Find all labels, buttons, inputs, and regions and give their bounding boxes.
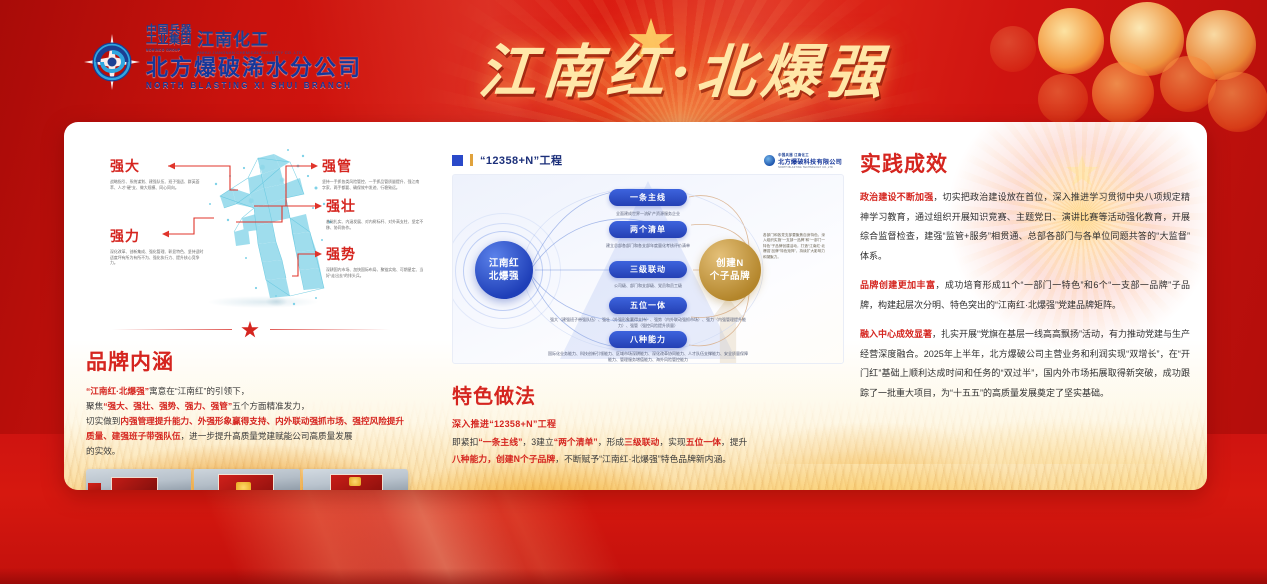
pillar-desc-4: 强大（建强班子带强队伍）、强壮（外强形象赢得支持）、强势（内外联动强抓市场）、强…: [548, 317, 748, 329]
brand-section-body: “江南红·北爆强”寓意在“江南红”的引领下， 聚焦“强大、强壮、强势、强力、强管…: [86, 384, 416, 459]
runner-label-title: 强管: [322, 156, 422, 176]
norinco-compass-icon: [84, 34, 140, 90]
meeting-photo-3: [303, 469, 408, 490]
content-card: 强大 战略指引、系统谋划、建强队伍、班子强适、群英荟萃、人才“硬”支、做大规模、…: [64, 122, 1207, 490]
poster-canvas: 中国兵器 工业集团 NORINCO GROUP 江南化工 ANHUI JIANG…: [0, 0, 1267, 584]
brand-highlight-4: 质量、建强班子带强队伍: [86, 431, 181, 441]
pillar-pill-3: 三级联动: [609, 261, 687, 278]
brand-text-f: 的实效。: [86, 446, 120, 456]
divider-line-left: [112, 329, 232, 330]
feat-h6: ，创建N个子品牌: [487, 454, 555, 464]
results-body-3: ，扎实开展“党旗在基层一线高高飘扬”活动，有力推动党建与生产经营深度融合。202…: [860, 329, 1190, 398]
star-icon: [241, 321, 259, 339]
pillar-desc-3: 公司级、部门和支部级、党员和员工级: [614, 283, 682, 289]
feat-h5: 八种能力: [452, 454, 487, 464]
company-name-cn: 北方爆破浠水分公司: [146, 55, 386, 81]
feature-subheading: 深入推进“12358+N”工程: [452, 417, 842, 430]
logo-text-block: 中国兵器 工业集团 NORINCO GROUP 江南化工 ANHUI JIANG…: [146, 31, 386, 90]
brand-text-a: 寓意在“江南红”的引领下，: [149, 386, 249, 396]
blue-square-icon: [452, 155, 463, 166]
feature-heading: 特色做法: [452, 380, 842, 409]
corner-logo-icon: [764, 155, 775, 166]
meeting-photo-2: [194, 469, 299, 490]
pillar-pill-4: 五位一体: [609, 297, 687, 314]
company-logo: 中国兵器 工业集团 NORINCO GROUP 江南化工 ANHUI JIANG…: [84, 31, 384, 97]
feat-h1: “一条主线”: [478, 437, 522, 447]
gold-bar-icon: [470, 154, 473, 166]
runner-label-desc: 战略指引、系统谋划、建强队伍、班子强适、群英荟萃、人才“硬”支、做大规模、同心同…: [110, 179, 206, 190]
panel-header-left: “12358+N”工程: [452, 152, 562, 168]
brand-section-heading: 品牌内涵: [86, 346, 436, 376]
feat-h3: 三级联动: [624, 437, 659, 447]
runner-figure-icon: [198, 148, 338, 308]
runner-label-desc: 深化改革、创新集成、强化管理、彰显特色、坚持适时适度坪有所为有所不为、强化执行力…: [110, 249, 206, 266]
runner-label-qiangli: 强力 深化改革、创新集成、强化管理、彰显特色、坚持适时适度坪有所为有所不为、强化…: [110, 226, 206, 266]
brand-text-c: 五个方面精准发力，: [232, 401, 309, 411]
runner-label-title: 强势: [326, 244, 426, 264]
corner-logo-text: 中国兵器 江南化工 北方爆破科技有限公司 NORTH BLASTING TECH…: [778, 152, 842, 169]
runner-label-qiangda: 强大 战略指引、系统谋划、建强队伍、班子强适、群英荟萃、人才“硬”支、做大规模、…: [110, 156, 206, 190]
results-lead-1: 政治建设不断加强: [860, 192, 933, 202]
results-lead-3: 融入中心成效显著: [860, 329, 932, 339]
runner-diagram: 强大 战略指引、系统谋划、建强队伍、班子强适、群英荟萃、人才“硬”支、做大规模、…: [86, 144, 426, 314]
feat-t6: ，不断赋予“江南红·北爆强”特色品牌新内涵。: [555, 454, 731, 464]
star-divider: [86, 318, 436, 340]
panel-corner-logo: 中国兵器 江南化工 北方爆破科技有限公司 NORTH BLASTING TECH…: [764, 152, 842, 169]
results-heading: 实践成效: [860, 148, 1190, 178]
meeting-photo-1: [86, 469, 191, 490]
feat-t4: ，实现: [659, 437, 685, 447]
results-lead-2: 品牌创建更加丰富: [860, 280, 935, 290]
runner-label-title: 强力: [110, 226, 206, 246]
pillar-desc-1: 全面建成世界一流矿产资源服务企业: [616, 211, 680, 217]
runner-label-qiangzhuang: 强壮 基础扎实、内涵发展、对内树标杆、对外高支柱、坚定不移、协同协作。: [326, 196, 426, 230]
pillar-pill-1: 一条主线: [609, 189, 687, 206]
norinco-line-2: 工业集团: [146, 35, 192, 45]
company-name-en: NORTH BLASTING XI SHUI BRANCH: [146, 81, 386, 90]
pillar-pill-5: 八种能力: [609, 331, 687, 348]
brand-text-b: 聚焦: [86, 401, 103, 411]
brand-highlight-2: “强大、强壮、强势、强力、强管”: [103, 401, 232, 411]
feat-t1: 即紧扣: [452, 437, 478, 447]
pillar-desc-5: 国际化业务能力、科技创新引领能力、区域市场深耕能力、深化改革协同能力、人才队伍支…: [548, 351, 748, 363]
runner-label-desc: 基础扎实、内涵发展、对内树标杆、对外高支柱、坚定不移、协同协作。: [326, 219, 426, 230]
right-column: 实践成效 政治建设不断加强，切实把政治建设放在首位，深入推进学习贯彻中央八项规定…: [860, 122, 1190, 490]
jiangnan-brand-text: 江南化工: [197, 25, 302, 50]
left-column: 强大 战略指引、系统谋划、建强队伍、班子强适、群英荟萃、人才“硬”支、做大规模、…: [86, 122, 436, 490]
feat-t3: ，形成: [598, 437, 624, 447]
background-bottom-fade: [0, 568, 1267, 584]
results-body-1: ，切实把政治建设放在首位，深入推进学习贯彻中央八项规定精神学习教育，通过组织开展…: [860, 192, 1190, 261]
panel-header: “12358+N”工程 中国兵器 江南化工 北方爆破科技有限公司 NORTH B…: [452, 152, 842, 168]
feat-t2: ，3建立: [522, 437, 553, 447]
runner-label-title: 强壮: [326, 196, 426, 216]
results-paragraph-2: 品牌创建更加丰富，成功培育形成11个“一部门一特色”和6个“一支部一品牌”子品牌…: [860, 276, 1190, 315]
jiangnan-brand-block: 江南化工 ANHUI JIANGNAN CHEMICAL INDUSTRY CO…: [197, 25, 302, 55]
runner-label-qiangguan: 强管 坚持一手抓各类风险管控、一手抓品管质量提升、强江南字家、两手都要、确保效中…: [322, 156, 422, 190]
core-left-line-2: 北爆强: [489, 270, 519, 283]
core-circle-jiangnanhong: 江南红 北爆强: [475, 241, 533, 299]
runner-label-qiangshi: 强势 深耕国内市场、加快国际布局、聚链实效、可期星定、当好“走出去”的排头兵。: [326, 244, 426, 278]
brand-text-e: ，进一步提升高质量党建赋能公司高质量发展: [181, 431, 353, 441]
divider-line-right: [270, 329, 390, 330]
brand-highlight-3: 内强管理提升能力、外强形象赢得支持、内外联动强抓市场、强控风险提升: [120, 416, 404, 426]
core-circle-subbrands: 创建N 个子品牌: [699, 239, 761, 301]
panel-title: “12358+N”工程: [480, 152, 562, 168]
runner-label-desc: 深耕国内市场、加快国际布局、聚链实效、可期星定、当好“走出去”的排头兵。: [326, 267, 426, 278]
results-paragraph-3: 融入中心成效显著，扎实开展“党旗在基层一线高高飘扬”活动，有力推动党建与生产经营…: [860, 325, 1190, 403]
corner-logo-line-2: 北方爆破科技有限公司: [778, 157, 842, 166]
pillar-desc-2: 建立总部各部门和各支部年度量化考核评价清单: [606, 243, 690, 249]
core-right-description: 各部门和各党支部要聚焦自身特色，深入组织实施“一支部一品牌”和“一部门一特色”子…: [763, 233, 825, 260]
feature-body: 即紧扣“一条主线”，3建立“两个清单”，形成三级联动，实现五位一体，提升 八种能…: [452, 434, 824, 468]
corner-logo-line-3: NORTH BLASTING TECHNOLOGY CO.,LTD: [778, 166, 842, 169]
results-paragraph-1: 政治建设不断加强，切实把政治建设放在首位，深入推进学习贯彻中央八项规定精神学习教…: [860, 188, 1190, 266]
core-right-line-1: 创建N: [716, 257, 744, 270]
feature-section: 特色做法 深入推进“12358+N”工程 即紧扣“一条主线”，3建立“两个清单”…: [452, 380, 842, 468]
norinco-line-3: NORINCO GROUP: [146, 45, 192, 55]
core-right-line-2: 个子品牌: [710, 270, 750, 283]
feat-h2: “两个清单”: [554, 437, 598, 447]
page-title: 江南红·北爆强: [401, 26, 967, 108]
feat-t5: ，提升: [721, 437, 747, 447]
runner-label-desc: 坚持一手抓各类风险管控、一手抓品管质量提升、强江南字家、两手都要、确保效中发迹、…: [322, 179, 422, 190]
pillar-pill-2: 两个清单: [609, 221, 687, 238]
photo-strip: [86, 469, 408, 490]
norinco-group-text: 中国兵器 工业集团 NORINCO GROUP: [146, 25, 192, 55]
brand-highlight-1: “江南红·北爆强”: [86, 386, 149, 396]
engineering-diagram: 江南红 北爆强 创建N 个子品牌 各部门和各党支部要聚焦自身特色，深入组织实施“…: [452, 174, 844, 364]
brand-text-d: 切实做到: [86, 416, 120, 426]
runner-label-title: 强大: [110, 156, 206, 176]
feat-h4: 五位一体: [686, 437, 721, 447]
middle-column: “12358+N”工程 中国兵器 江南化工 北方爆破科技有限公司 NORTH B…: [452, 122, 842, 490]
core-left-line-1: 江南红: [489, 257, 519, 270]
